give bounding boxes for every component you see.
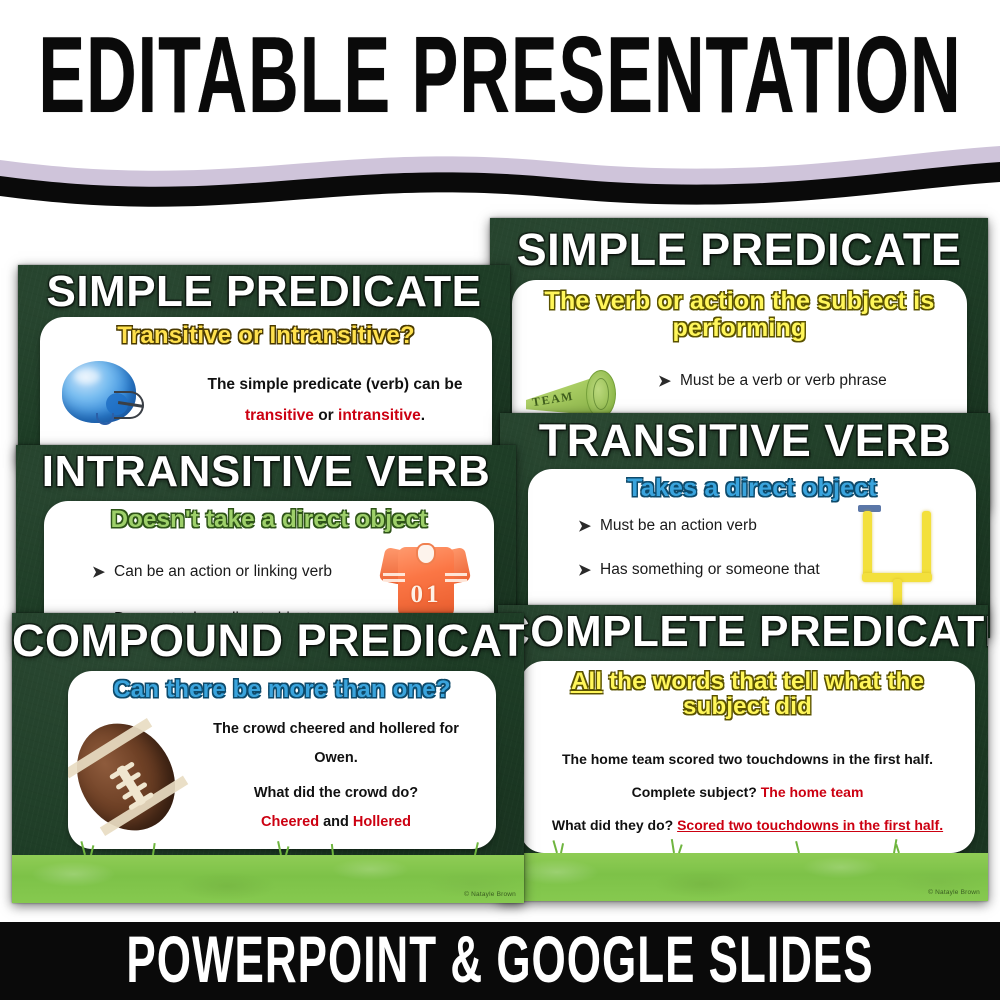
predicate-label: What did they do? (552, 817, 677, 833)
transitive-highlight: transitive (245, 407, 314, 424)
slide-simple-predicate-transitive[interactable]: SIMPLE PREDICATE Transitive or Intransit… (18, 265, 510, 465)
question-line: What did the crowd do? (188, 779, 484, 808)
predicate-answer: Scored two touchdowns in the first half. (677, 817, 943, 833)
bottom-banner: POWERPOINT & GOOGLE SLIDES (0, 922, 1000, 1000)
slide-collage: SIMPLE PREDICATE The verb or action the … (0, 195, 1000, 925)
example-sentence-line-1: The crowd cheered and hollered for (188, 715, 484, 744)
answer-line: Cheered and Hollered (188, 808, 484, 837)
complete-subject-line: Complete subject? The home team (524, 776, 971, 809)
example-sentence-line-2: Owen. (188, 744, 484, 773)
slide-title: SIMPLE PREDICATE (18, 267, 510, 317)
list-item-label: Must be an action verb (600, 517, 757, 535)
jersey-number: 01 (404, 581, 448, 609)
content-card: Can there be more than one? The crowd ch… (68, 671, 496, 849)
top-banner-title: EDITABLE PRESENTATION (38, 13, 961, 137)
football-helmet-icon (62, 361, 152, 431)
slide-title: SIMPLE PREDICATE (490, 224, 988, 276)
card-heading: Transitive or Intransitive? (46, 323, 486, 348)
slide-compound-predicate[interactable]: COMPOUND PREDICATE Can there be more tha… (12, 613, 524, 903)
answer-conjunction: and (319, 814, 353, 830)
content-card: Transitive or Intransitive? The simple p… (40, 317, 492, 465)
answer-verb-2: Hollered (353, 814, 411, 830)
chevron-right-icon: ➤ (92, 563, 105, 582)
example-sentence: The home team scored two touchdowns in t… (524, 743, 971, 776)
body-line-1: The simple predicate (verb) can be (190, 369, 480, 400)
heading-underlined-word: All (571, 668, 602, 695)
body-text: The crowd cheered and hollered for Owen.… (188, 715, 484, 837)
body-text: The simple predicate (verb) can be trans… (190, 369, 480, 431)
card-heading: Can there be more than one? (74, 677, 490, 702)
predicate-line: What did they do? Scored two touchdowns … (524, 809, 971, 842)
slide-complete-predicate[interactable]: COMPLETE PREDICATE All the words that te… (498, 605, 988, 901)
bottom-banner-title: POWERPOINT & GOOGLE SLIDES (126, 924, 873, 999)
chevron-right-icon: ➤ (658, 372, 671, 391)
slide-title: INTRANSITIVE VERB (16, 447, 516, 497)
list-item-label: Must be a verb or verb phrase (680, 372, 887, 390)
body-line-2: transitive or intransitive. (190, 400, 480, 431)
copyright-credit: © Natayle Brown (464, 891, 516, 898)
top-banner: EDITABLE PRESENTATION (0, 0, 1000, 150)
body-text: The home team scored two touchdowns in t… (524, 743, 971, 842)
list-item: ➤ Must be an action verb (578, 517, 820, 536)
content-card: All the words that tell what the subject… (520, 661, 975, 853)
list-item-label: Can be an action or linking verb (114, 563, 332, 581)
card-heading: All the words that tell what the subject… (526, 669, 969, 720)
period: . (421, 407, 425, 424)
card-heading: Doesn't take a direct object (50, 507, 488, 532)
conjunction: or (314, 407, 338, 424)
copyright-credit: © Natayle Brown (928, 889, 980, 896)
list-item-label: Has something or someone that (600, 561, 820, 579)
card-heading: Takes a direct object (534, 475, 970, 502)
complete-subject-answer: The home team (761, 784, 864, 800)
intransitive-highlight: intransitive (338, 407, 421, 424)
chevron-right-icon: ➤ (578, 561, 591, 580)
answer-verb-1: Cheered (261, 814, 319, 830)
list-item: ➤ Must be a verb or verb phrase (658, 372, 893, 391)
slide-title: TRANSITIVE VERB (500, 415, 990, 467)
slide-title: COMPLETE PREDICATE (498, 607, 988, 657)
card-heading: The verb or action the subject is perfor… (518, 288, 961, 341)
chevron-right-icon: ➤ (578, 517, 591, 536)
complete-subject-label: Complete subject? (632, 784, 761, 800)
slide-title: COMPOUND PREDICATE (12, 615, 524, 667)
grass-strip: © Natayle Brown (12, 855, 524, 903)
football-icon (68, 705, 195, 849)
list-item: ➤ Can be an action or linking verb (92, 563, 332, 582)
heading-rest: the words that tell what the subject did (602, 668, 924, 720)
list-item: ➤ Has something or someone that (578, 561, 820, 580)
grass-strip: © Natayle Brown (498, 853, 988, 901)
football-jersey-icon: 01 (382, 539, 468, 621)
